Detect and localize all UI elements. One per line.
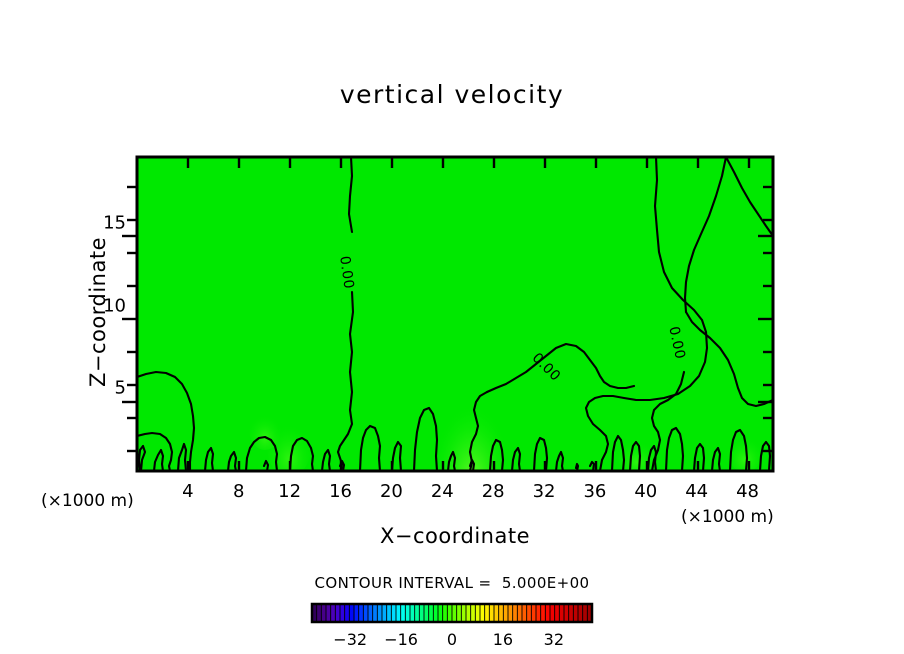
x-axis-tick-label: 40 xyxy=(634,481,657,502)
x-axis-tick-label: 44 xyxy=(685,481,708,502)
x-axis-tick-label: 36 xyxy=(583,481,606,502)
x-axis-tick-label: 20 xyxy=(380,481,403,502)
colorbar xyxy=(312,604,592,622)
colorbar-tick-label: −32 xyxy=(333,630,367,649)
contour-interval-caption: CONTOUR INTERVAL = 5.000E+00 xyxy=(0,574,904,592)
x-axis-tick-label: 16 xyxy=(329,481,352,502)
x-axis-tick-label: 12 xyxy=(278,481,301,502)
x-axis-tick-label: 48 xyxy=(736,481,759,502)
colorbar-tick-label: 16 xyxy=(493,630,513,649)
y-axis-tick-label: 5 xyxy=(96,378,126,399)
x-axis-tick-label: 32 xyxy=(533,481,556,502)
colorbar-tick-label: 32 xyxy=(544,630,564,649)
page-title: vertical velocity xyxy=(0,80,904,109)
x-axis-unit-left: (×1000 m) xyxy=(41,491,134,511)
y-axis-tick-label: 10 xyxy=(96,295,126,316)
x-axis-tick-label: 28 xyxy=(482,481,505,502)
colorbar-tick-label: 0 xyxy=(447,630,457,649)
colorbar-tick-label: −16 xyxy=(384,630,418,649)
x-axis-tick-label: 8 xyxy=(233,481,244,502)
x-axis-tick-label: 4 xyxy=(182,481,193,502)
contour-plot-figure: vertical velocity Z−coordinate X−coordin… xyxy=(0,0,904,654)
x-axis-tick-label: 24 xyxy=(431,481,454,502)
x-axis-unit-right: (×1000 m) xyxy=(681,507,774,527)
y-axis-tick-label: 15 xyxy=(96,213,126,234)
x-axis-title: X−coordinate xyxy=(136,524,774,548)
